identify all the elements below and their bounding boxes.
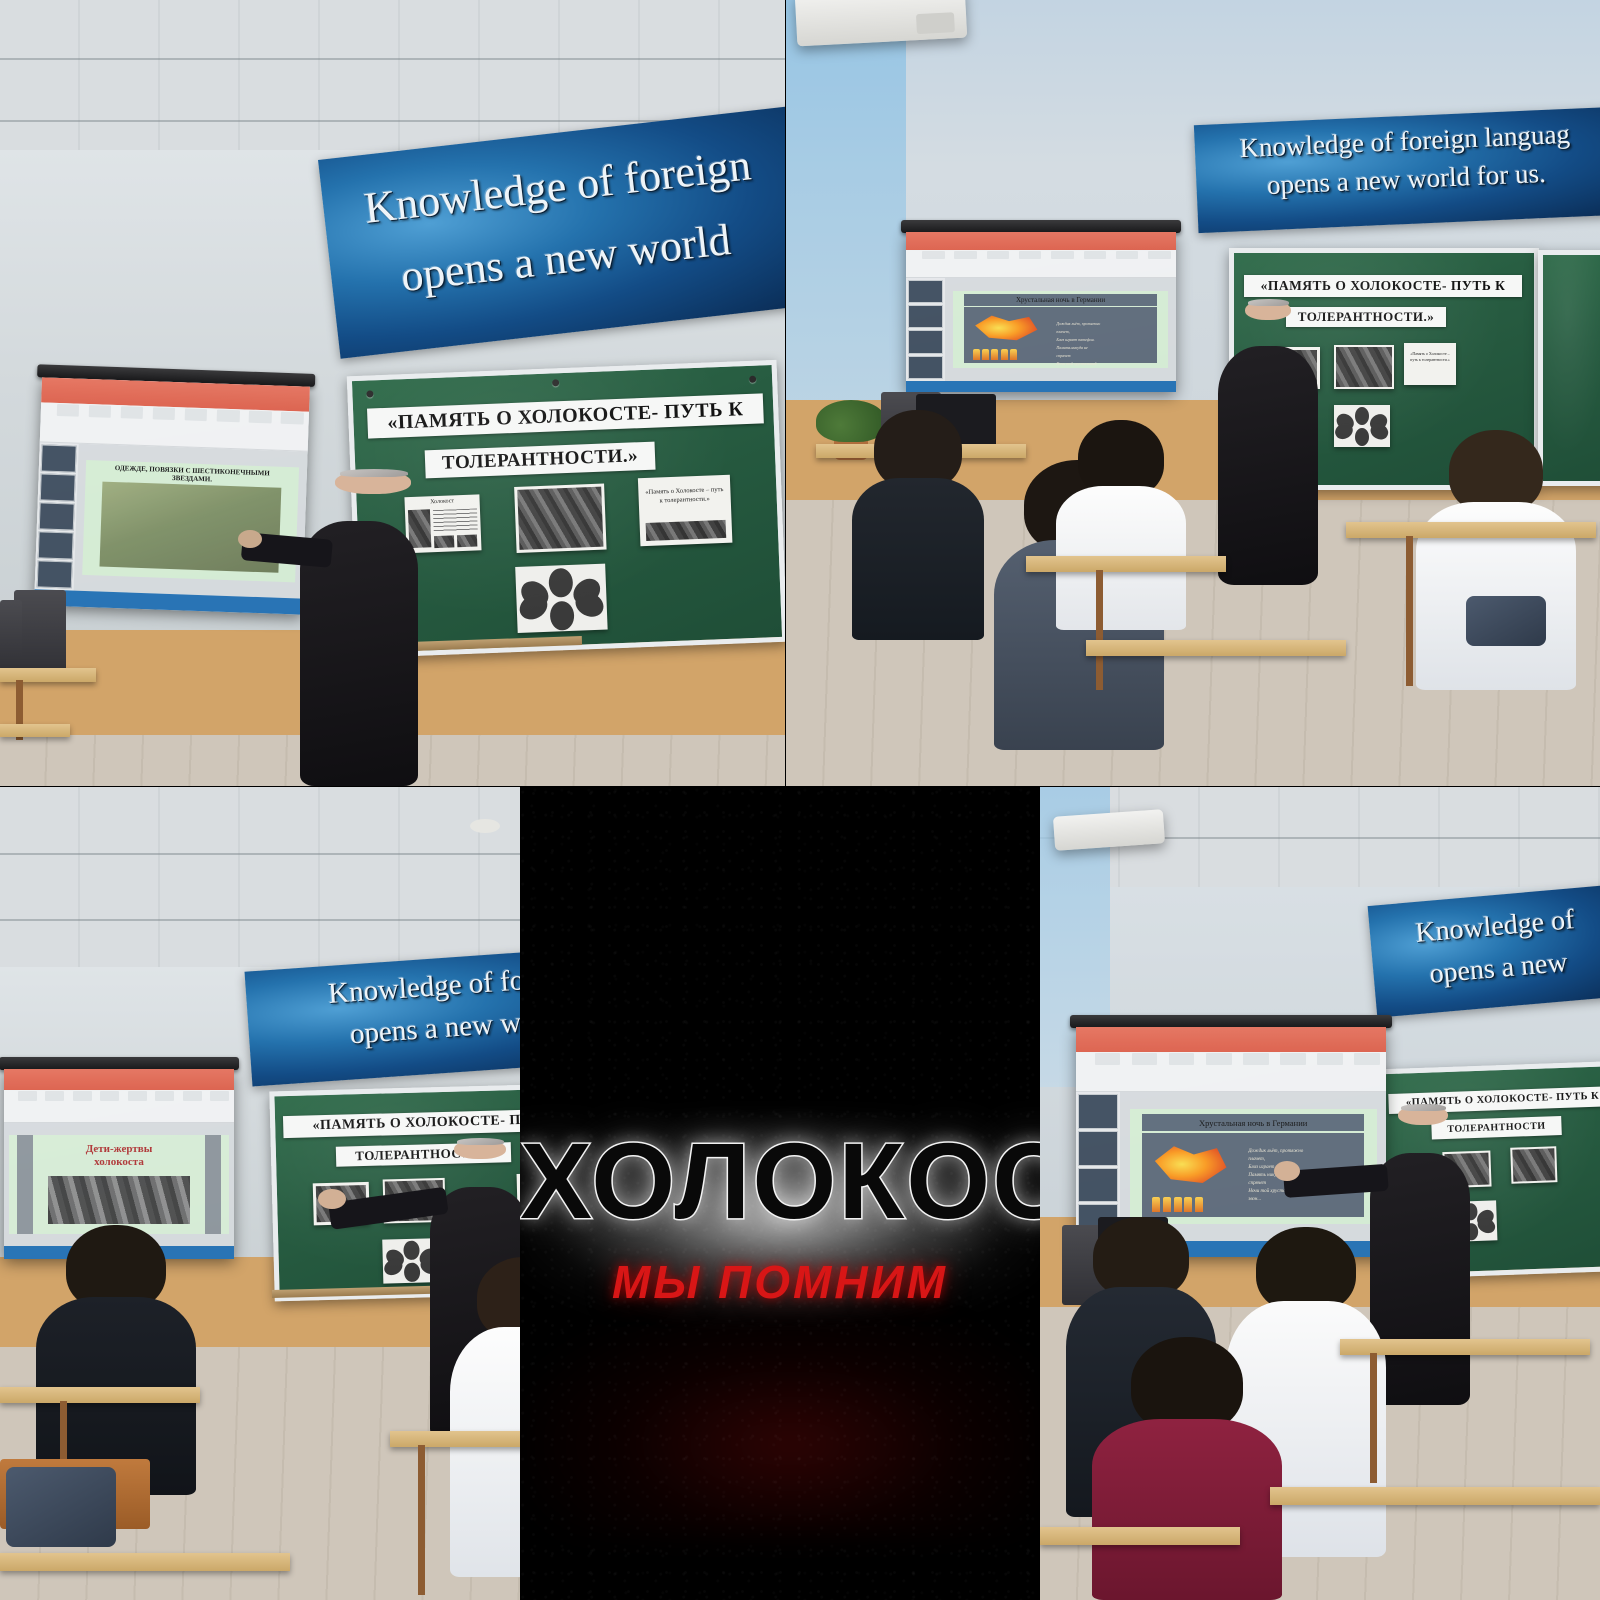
slide-fire-image xyxy=(1142,1133,1244,1216)
powerpoint-window: ОДЕЖДЕ, ПОВЯЗКИ С ШЕСТИКОНЕЧНЫМИ ЗВЕЗДАМ… xyxy=(34,377,310,614)
backpack-icon xyxy=(1466,596,1546,646)
computer-side xyxy=(0,600,22,674)
backpack-icon xyxy=(6,1467,116,1547)
teacher-desk xyxy=(0,668,96,682)
slide-six-pointed-stars: ОДЕЖДЕ, ПОВЯЗКИ С ШЕСТИКОНЕЧНЫМИ ЗВЕЗДАМ… xyxy=(82,460,299,583)
ppt-ribbon xyxy=(4,1090,234,1123)
slide-kristallnacht: Хрустальная ночь в Германии Дождик льёт,… xyxy=(953,291,1168,367)
window-light xyxy=(786,0,906,430)
student xyxy=(852,410,984,640)
teacher xyxy=(1218,300,1318,585)
ppt-titlebar xyxy=(4,1069,234,1090)
paper-tolerance-flower xyxy=(515,564,607,633)
wall-banner: Knowledge of opens a new xyxy=(1368,884,1600,1017)
board-headline-line-1: «ПАМЯТЬ О ХОЛОКОСТЕ- ПУТЬ К xyxy=(367,393,764,438)
panel-bottom-right: Knowledge of opens a new «ПАМЯТЬ О ХОЛОК… xyxy=(1040,787,1600,1600)
slide-title-line-1: Дети-жертвы xyxy=(86,1143,153,1155)
board-headline-line-1: «ПАМЯТЬ О ХОЛОКОСТЕ- ПУТЬ К xyxy=(1244,275,1522,297)
student-desk xyxy=(1026,556,1226,572)
paper-memory-quote xyxy=(1510,1146,1557,1184)
teacher xyxy=(300,470,418,786)
slide-title: Хрустальная ночь в Германии xyxy=(1199,1118,1307,1128)
ppt-ribbon xyxy=(906,250,1176,278)
ppt-titlebar xyxy=(906,232,1176,250)
collage-root: Knowledge of foreign opens a new world «… xyxy=(0,0,1600,1600)
slide-poem: Дождик льёт, протяжно плачет, Близ играе… xyxy=(1053,307,1158,363)
student-desk xyxy=(1040,1527,1240,1545)
slide-title: Хрустальная ночь в Германии xyxy=(1016,296,1105,304)
student xyxy=(1056,420,1186,630)
student-desk xyxy=(1340,1339,1590,1355)
paper-holocaust-photo xyxy=(1334,345,1394,389)
panel-top-right: Knowledge of foreign languag opens a new… xyxy=(786,0,1600,786)
slide-image xyxy=(48,1176,189,1224)
ppt-titlebar xyxy=(1076,1027,1386,1052)
ppt-ribbon xyxy=(1076,1052,1386,1092)
slide-title-line-2: холокоста xyxy=(94,1156,144,1168)
panel-center-title: ХОЛОКОСТ МЫ ПОМНИМ xyxy=(520,787,1040,1600)
projection-screen: ОДЕЖДЕ, ПОВЯЗКИ С ШЕСТИКОНЕЧНЫМИ ЗВЕЗДАМ… xyxy=(34,377,310,614)
student-desk xyxy=(1086,640,1346,656)
holocaust-title: ХОЛОКОСТ xyxy=(520,1127,1040,1235)
paper-memory-quote: «Память о Холокосте – путь к толерантнос… xyxy=(1404,343,1456,385)
student-desk xyxy=(0,1387,200,1403)
projection-screen: Хрустальная ночь в Германии Дождик льёт,… xyxy=(906,232,1176,392)
banner-line-1: Knowledge of xyxy=(1369,900,1600,954)
student xyxy=(1092,1337,1282,1600)
student-desk xyxy=(1346,522,1596,538)
ppt-slide-thumbnails[interactable] xyxy=(35,442,79,590)
board-headline-line-2: ТОЛЕРАНТНОСТИ.» xyxy=(425,442,656,479)
slide-children-victims: Дети-жертвы холокоста xyxy=(9,1135,230,1235)
student xyxy=(1416,430,1576,690)
we-remember-subtitle: МЫ ПОМНИМ xyxy=(520,1259,1040,1305)
slide-fire-image xyxy=(964,307,1053,363)
student-desk xyxy=(0,1553,290,1571)
ppt-taskbar xyxy=(906,381,1176,392)
paper-memory-quote: «Память о Холокосте – путь к толерантнос… xyxy=(638,475,733,546)
ppt-slide-thumbnails[interactable] xyxy=(906,278,945,381)
powerpoint-window: Хрустальная ночь в Германии Дождик льёт,… xyxy=(906,232,1176,392)
paper-holocaust-photo xyxy=(514,484,606,553)
desk-shelf xyxy=(0,724,70,737)
wall-banner: Knowledge of foreign languag opens a new… xyxy=(1194,107,1600,233)
panel-top-left: Knowledge of foreign opens a new world «… xyxy=(0,0,785,786)
paper-tolerance-flower xyxy=(1334,405,1390,447)
student-desk xyxy=(1270,1487,1600,1505)
smoke-detector-icon xyxy=(470,819,500,833)
